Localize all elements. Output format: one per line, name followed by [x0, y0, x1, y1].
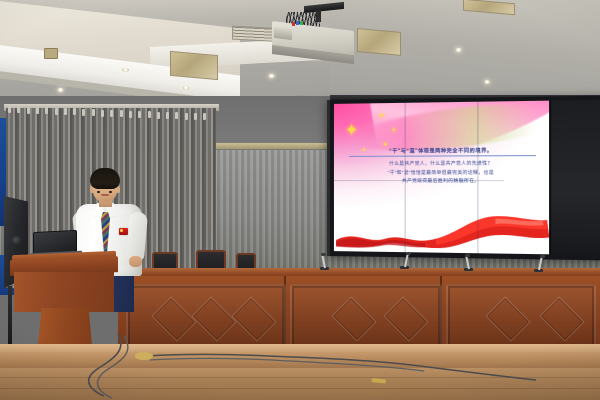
panel-seam-vertical-1: [405, 103, 406, 252]
curtain-hook: [73, 108, 76, 115]
flag-star-small-1: ✦: [378, 112, 385, 120]
slide-red-ribbon: [334, 210, 552, 251]
curtain-hook: [194, 113, 197, 120]
downlight-bulb: [486, 81, 489, 83]
gooseneck-microphone-1-head: [321, 253, 326, 256]
curtain-hook: [138, 111, 141, 118]
presentation-slide: ✦ ✦ ✦ ✦ ✦ “干”与“混”体现是两种完全不同的境界。 什么是共产党人，什…: [334, 101, 552, 255]
presenter-right-arm: [126, 211, 148, 260]
curtain-hook: [8, 106, 11, 113]
presenter-hair: [90, 168, 120, 189]
projector-port-blue: [296, 21, 299, 25]
curtain-hook: [101, 110, 104, 117]
curtain-hook: [64, 108, 67, 115]
ceiling-sensor-box: [44, 48, 58, 59]
downlight-bulb: [185, 87, 188, 89]
panel-seam-horizontal: [334, 180, 504, 181]
downlight-bulb: [124, 69, 127, 71]
curtain-hook: [129, 111, 132, 118]
screen-surface: ✦ ✦ ✦ ✦ ✦ “干”与“混”体现是两种完全不同的境界。 什么是共产党人，什…: [334, 100, 600, 256]
curtain-hook: [92, 109, 95, 116]
speaker-driver: [12, 236, 21, 245]
curtain-hook: [157, 112, 160, 119]
presenter-badge: [119, 228, 128, 235]
video-wall-display[interactable]: ✦ ✦ ✦ ✦ ✦ “干”与“混”体现是两种完全不同的境界。 什么是共产党人，什…: [327, 95, 600, 260]
curtain-hook: [175, 112, 178, 119]
flag-star-small-2: ✦: [391, 127, 397, 134]
gooseneck-microphone-2-head: [406, 252, 411, 255]
presenter-right-hand: [129, 256, 142, 267]
slide-heading: “干”与“混”体现是两种完全不同的境界。: [349, 147, 536, 157]
lectern-body: [14, 272, 114, 312]
curtain-hook: [45, 107, 48, 114]
floor-cables: [0, 330, 600, 400]
lecture-hall-photo: ✦ ✦ ✦ ✦ ✦ “干”与“混”体现是两种完全不同的境界。 什么是共产党人，什…: [0, 0, 600, 400]
projector-lens-panel: [274, 27, 292, 40]
curtain-hook: [36, 107, 39, 114]
curtain-hook: [17, 106, 20, 113]
projector-port-green: [300, 21, 303, 25]
curtain-hook: [27, 107, 30, 114]
video-wall-panel-off[interactable]: [549, 100, 600, 256]
recessed-downlight-3: [183, 86, 189, 90]
ceiling-air-vent-1: [170, 51, 218, 80]
gooseneck-microphone-3-head: [465, 254, 470, 257]
downlight-bulb: [457, 49, 460, 51]
downlight-bulb: [270, 75, 273, 77]
ceiling-right-section: [330, 0, 600, 108]
panel-seam-vertical-2: [478, 102, 479, 254]
downlight-bulb: [59, 89, 62, 91]
curtain-hook: [203, 113, 206, 120]
presenter-eye-left: [97, 191, 100, 193]
projector-port-red: [292, 22, 295, 26]
curtain-hook: [185, 113, 188, 120]
presenter-mouth: [101, 194, 109, 196]
ceiling-air-vent-3: [357, 28, 401, 56]
curtain-hook: [166, 112, 169, 119]
curtain-hook: [120, 110, 123, 117]
curtain-hook: [55, 108, 58, 115]
flag-star-large: ✦: [344, 121, 358, 138]
slide-body-line-1: 什么是共产党人，什么是共产党人的先进性？: [349, 160, 536, 167]
curtain-hook: [148, 111, 151, 118]
curtain-hook: [110, 110, 113, 117]
slide-body-line-2: “干”和“混”恰恰是最简单但最完美的诠释，也是: [349, 169, 536, 175]
gooseneck-microphone-4-head: [540, 255, 545, 258]
presenter-eye-right: [109, 191, 112, 193]
curtain-hook: [82, 109, 85, 116]
recessed-downlight-10: [484, 80, 490, 84]
